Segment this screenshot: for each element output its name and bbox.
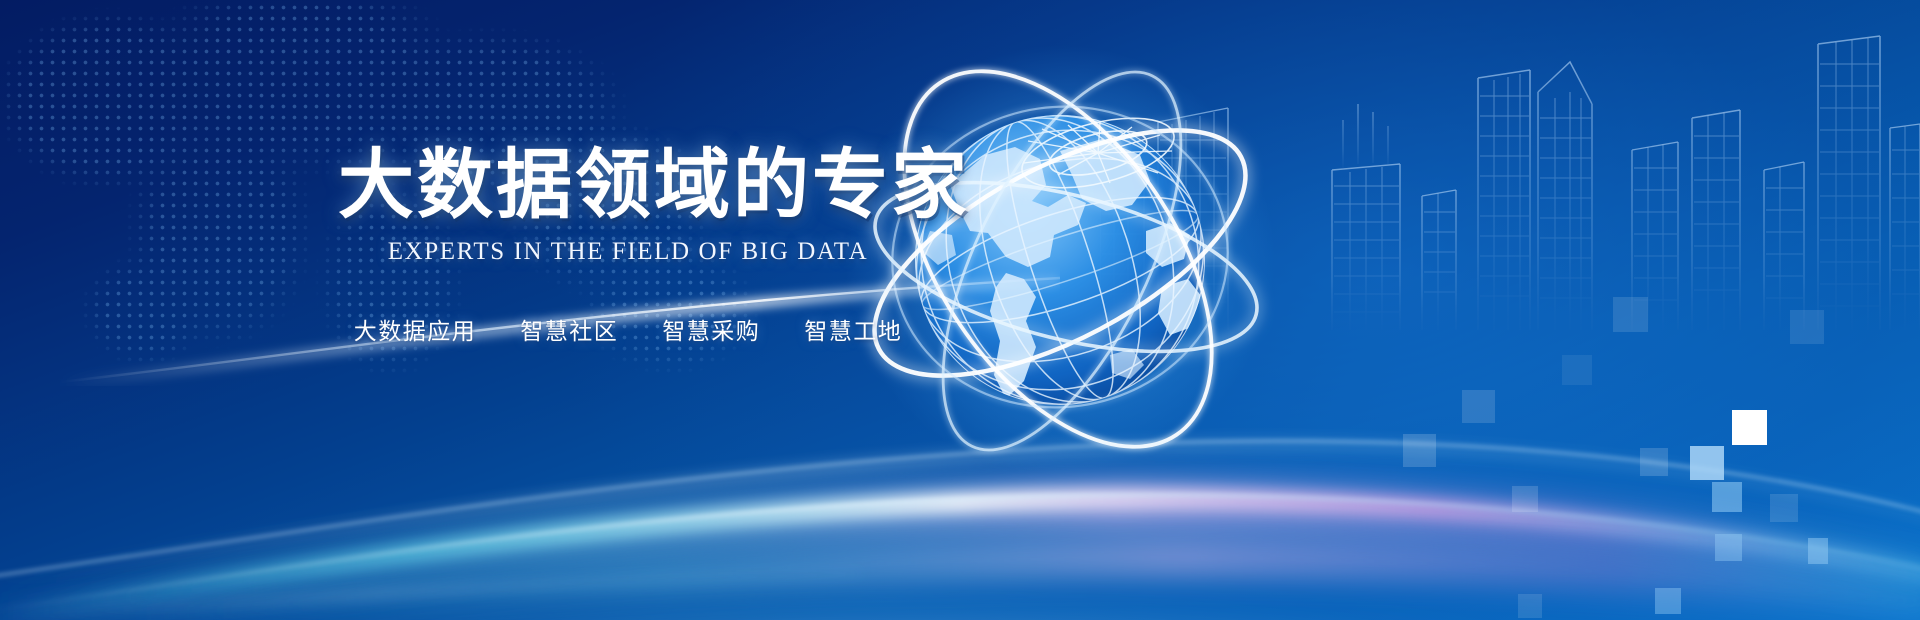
pixel-square [1640, 448, 1668, 476]
page-title: 大数据领域的专家 [338, 146, 918, 224]
pixel-squares-graphic [0, 0, 1920, 620]
keyword-item-2[interactable]: 智慧采购 [662, 312, 760, 346]
pixel-square [1790, 310, 1824, 344]
pixel-square [1512, 486, 1538, 512]
aurora-light-streak-graphic [0, 320, 1920, 620]
pixel-square [1690, 446, 1724, 480]
banner-copy: 大数据领域的专家 EXPERTS IN THE FIELD OF BIG DAT… [338, 146, 918, 266]
keyword-list: 大数据应用 智慧社区 智慧采购 智慧工地 [338, 312, 918, 346]
hero-banner: 大数据领域的专家 EXPERTS IN THE FIELD OF BIG DAT… [0, 0, 1920, 620]
pixel-square [1770, 494, 1798, 522]
globe-network-graphic [810, 35, 1310, 505]
keyword-item-3[interactable]: 智慧工地 [804, 312, 902, 346]
city-skyline-graphic [1100, 0, 1920, 330]
pixel-square [1712, 482, 1742, 512]
keyword-item-0[interactable]: 大数据应用 [354, 312, 477, 346]
pixel-square [1403, 434, 1436, 467]
page-subtitle: EXPERTS IN THE FIELD OF BIG DATA [338, 238, 918, 266]
pixel-square [1518, 594, 1542, 618]
pixel-square [1655, 588, 1681, 614]
pixel-square [1808, 538, 1828, 564]
pixel-square [1613, 297, 1648, 332]
pixel-square [1715, 534, 1742, 561]
pixel-square [1732, 410, 1767, 445]
pixel-square [1562, 355, 1592, 385]
keyword-item-1[interactable]: 智慧社区 [520, 312, 618, 346]
pixel-square [1462, 390, 1495, 423]
